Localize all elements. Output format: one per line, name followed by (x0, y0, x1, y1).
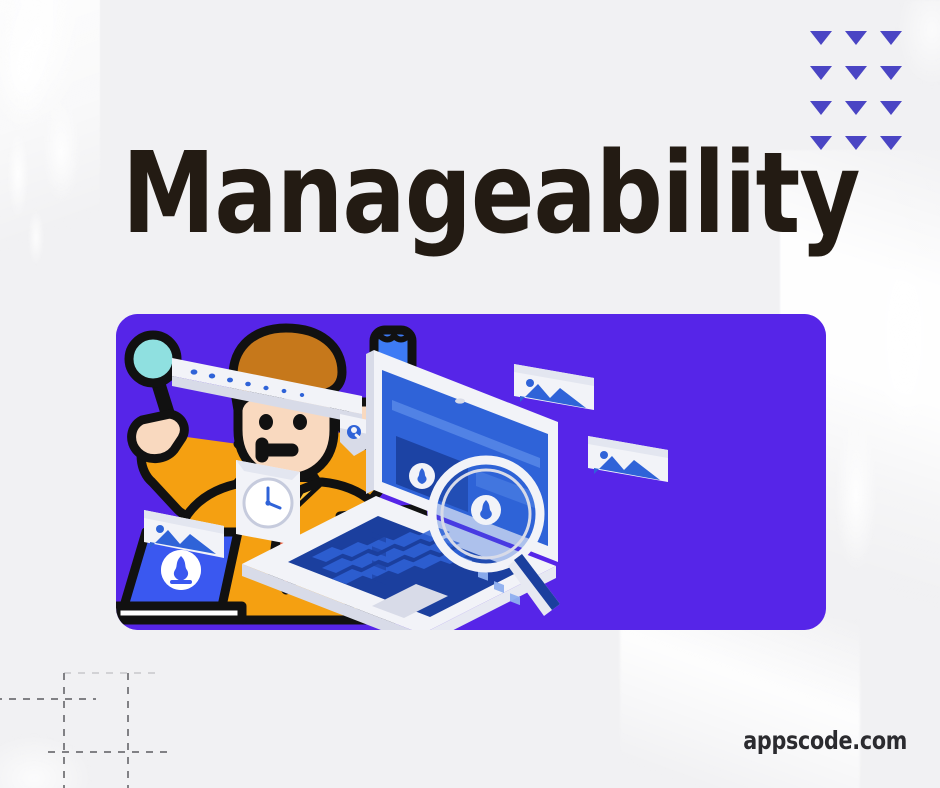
triangle-down-icon (845, 66, 867, 80)
triangle-down-icon (810, 101, 832, 115)
brush-texture-left (0, 0, 100, 300)
triangle-down-icon (880, 31, 902, 45)
clock-widget (236, 460, 300, 546)
triangle-down-icon (810, 31, 832, 45)
triangle-down-icon (880, 66, 902, 80)
triangle-down-icon (845, 31, 867, 45)
triangle-down-icon (810, 66, 832, 80)
poster-canvas: Manageability (0, 0, 940, 788)
brush-texture-bottom-right (620, 618, 860, 788)
dashed-grid (0, 655, 200, 788)
triangle-down-icon (880, 136, 902, 150)
brand-footer: appscode.com (743, 726, 907, 755)
page-title: Manageability (122, 138, 859, 250)
triangle-down-icon (880, 101, 902, 115)
brush-texture-left-lower (0, 90, 54, 300)
prometheus-logo (161, 550, 201, 590)
brush-texture-bottom-left (0, 658, 160, 788)
triangle-down-icon (845, 101, 867, 115)
illustration-artwork (116, 314, 826, 630)
illustration-card (116, 314, 826, 630)
